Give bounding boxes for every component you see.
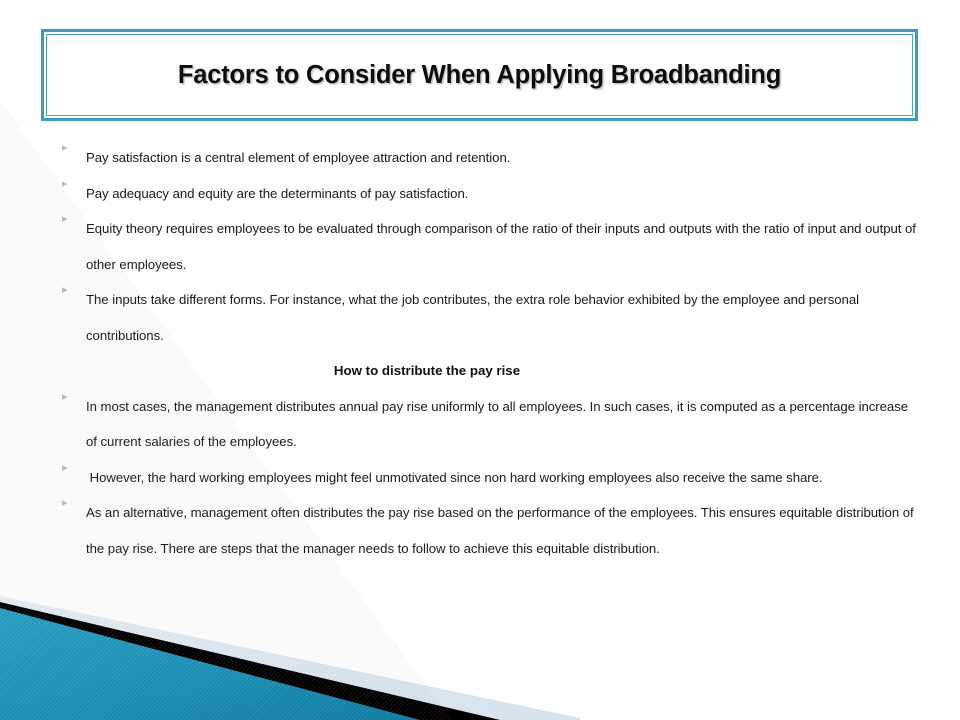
- slide-title-frame-inner: Factors to Consider When Applying Broadb…: [46, 34, 913, 116]
- slide-title-frame: Factors to Consider When Applying Broadb…: [41, 29, 918, 121]
- bullet-list-item: ▸Equity theory requires employees to be …: [62, 211, 922, 282]
- bullet-list-item: ▸Pay adequacy and equity are the determi…: [62, 176, 922, 212]
- page-title: Factors to Consider When Applying Broadb…: [178, 61, 781, 90]
- bullet-item-label: The inputs take different forms. For ins…: [86, 282, 922, 353]
- bullet-list-item: ▸The inputs take different forms. For in…: [62, 282, 922, 353]
- bullet-list-item: ▸Pay satisfaction is a central element o…: [62, 140, 922, 176]
- bullet-item-label: Pay adequacy and equity are the determin…: [86, 176, 922, 212]
- bullet-item-label: Pay satisfaction is a central element of…: [86, 140, 922, 176]
- bullet-triangle-icon: ▸: [62, 176, 86, 190]
- bullet-item-label: Equity theory requires employees to be e…: [86, 211, 922, 282]
- bullet-triangle-icon: ▸: [62, 140, 86, 154]
- presentation-slide: Factors to Consider When Applying Broadb…: [0, 0, 960, 720]
